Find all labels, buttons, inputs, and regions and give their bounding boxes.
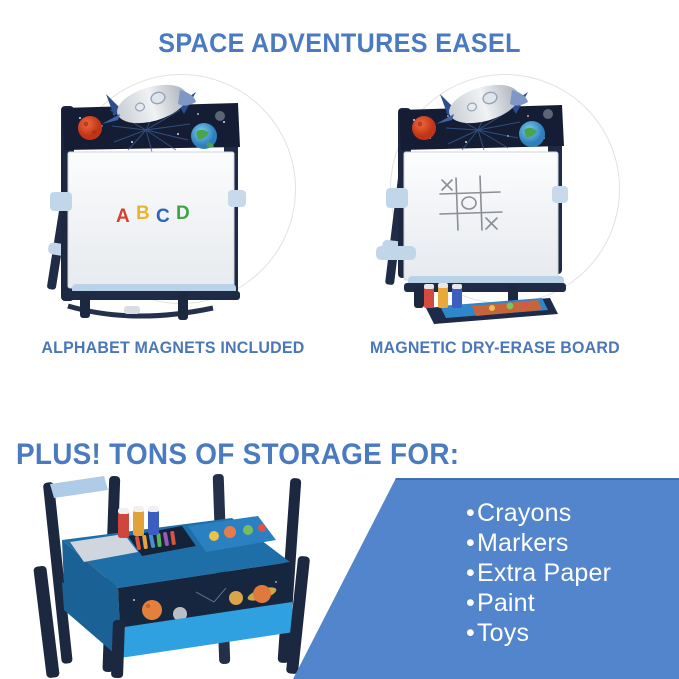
feature-card-alphabet-magnets: A B C D (28, 70, 314, 330)
mars-planet-graphic (412, 116, 436, 140)
list-item: •Toys (466, 618, 611, 648)
magnet-letter-b: B (136, 203, 150, 224)
list-item-label: Toys (477, 619, 529, 647)
easel-with-tic-tac-toe-image (352, 70, 638, 330)
bullet-dot-icon: • (466, 559, 475, 587)
paper-clip-holder (386, 188, 408, 208)
mars-planet-graphic (78, 116, 102, 140)
list-item-label: Markers (477, 529, 569, 557)
feature-card-dry-erase-board (352, 70, 638, 330)
paint-bottle-red (424, 286, 434, 308)
bullet-dot-icon: • (466, 529, 475, 557)
paint-bottle-blue (452, 286, 462, 308)
list-item: •Crayons (466, 498, 611, 528)
storage-section-heading: PLUS! TONS OF STORAGE FOR: (16, 438, 459, 472)
magnet-letter-a: A (116, 206, 130, 227)
easel-with-alphabet-magnets-image: A B C D (28, 70, 314, 330)
bullet-dot-icon: • (466, 499, 475, 527)
paint-bottle-yellow (438, 285, 448, 308)
bullet-dot-icon: • (466, 619, 475, 647)
feature-caption-alphabet-magnets: ALPHABET MAGNETS INCLUDED (41, 338, 304, 358)
space-header-panel (62, 78, 240, 152)
feature-photo-row: A B C D (0, 70, 679, 330)
infographic-page: SPACE ADVENTURES EASEL (0, 0, 679, 679)
list-item-label: Extra Paper (477, 559, 611, 587)
list-item-label: Paint (477, 589, 535, 617)
dry-erase-board (68, 152, 234, 288)
feature-caption-dry-erase-board: MAGNETIC DRY-ERASE BOARD (370, 338, 620, 358)
page-title: SPACE ADVENTURES EASEL (24, 28, 655, 59)
magnet-letter-d: D (176, 203, 190, 224)
upper-brace (50, 476, 108, 498)
space-header-panel (399, 78, 564, 150)
paint-bottles (118, 506, 159, 538)
paper-clip-holder (50, 192, 72, 211)
list-item: •Paint (466, 588, 611, 618)
magnet-letter-c: C (156, 206, 170, 227)
storage-items-list: •Crayons •Markers •Extra Paper •Paint •T… (466, 498, 611, 648)
storage-table-image (0, 470, 360, 679)
bullet-dot-icon: • (466, 589, 475, 617)
list-item: •Extra Paper (466, 558, 611, 588)
list-item: •Markers (466, 528, 611, 558)
list-item-label: Crayons (477, 499, 572, 527)
